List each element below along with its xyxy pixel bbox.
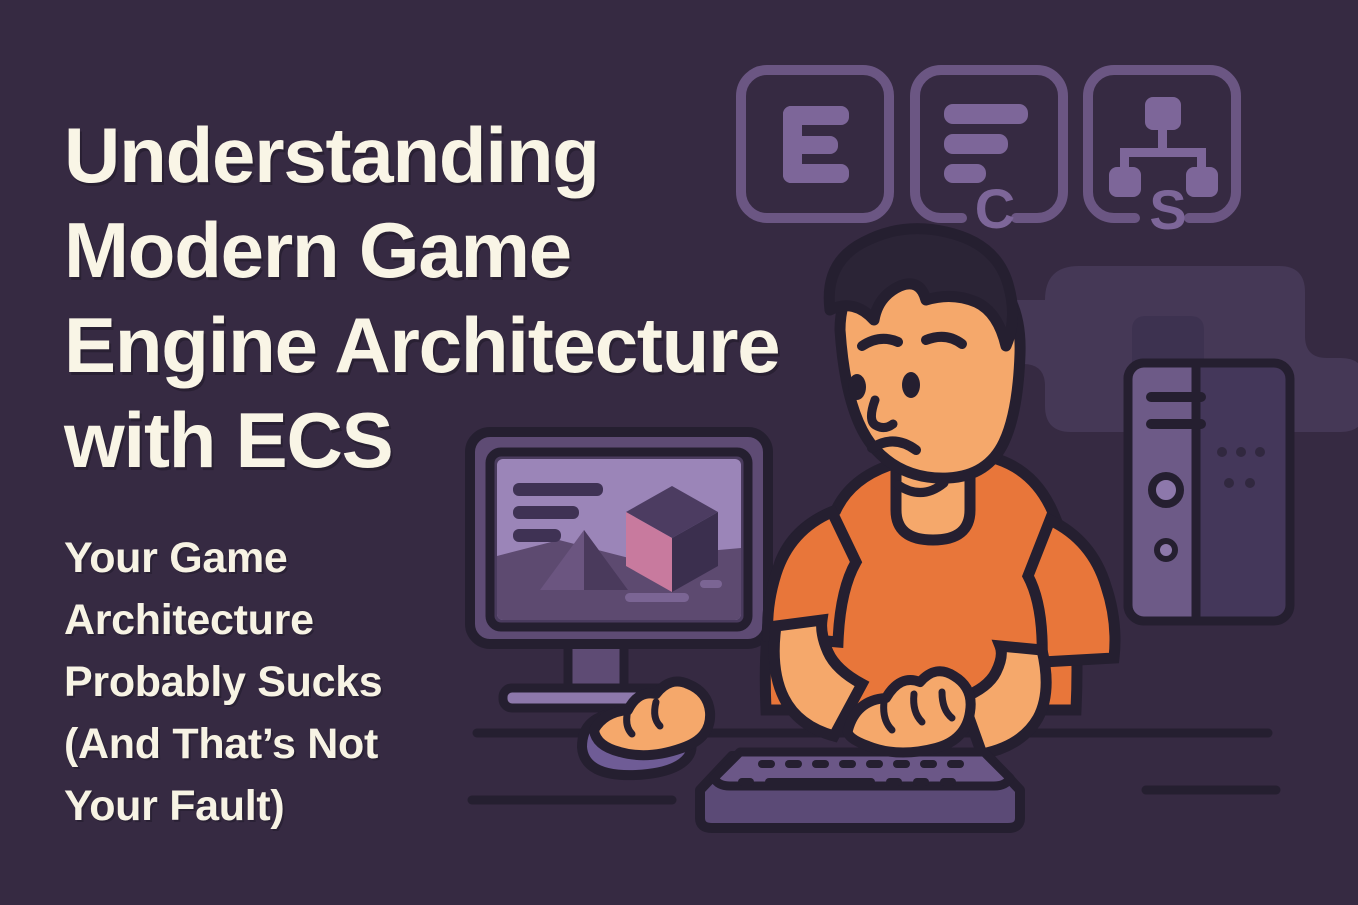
person-eye-right (902, 372, 920, 398)
power-button (1152, 476, 1180, 504)
reset-button (1157, 541, 1175, 559)
person-eye-left (848, 374, 866, 400)
ecs-badge-group: C S (741, 70, 1236, 241)
screen-ui-bar-2 (513, 506, 579, 519)
badge-system-letter: S (1149, 178, 1186, 241)
desktop-monitor (470, 432, 768, 708)
monitor-screen-content (497, 459, 741, 620)
screen-progress-bar (625, 593, 689, 602)
keyboard-spacebar (765, 778, 875, 786)
keyboard (700, 752, 1020, 828)
pc-tower (1128, 363, 1290, 621)
illustration-artboard: C S (0, 0, 1358, 905)
poster-canvas: C S (0, 0, 1358, 905)
screen-ui-bar-3 (513, 529, 561, 542)
badge-component-letter: C (975, 177, 1015, 240)
screen-ui-bar-1 (513, 483, 603, 496)
drive-slot-bottom (1146, 419, 1206, 429)
badge-entity[interactable] (741, 70, 889, 218)
screen-small-pill (700, 580, 722, 588)
person-right-sleeve (1028, 520, 1115, 662)
letter-e-glyph (783, 106, 849, 183)
badge-component[interactable]: C (915, 70, 1063, 240)
stacked-bars-glyph (944, 104, 1028, 183)
badge-system[interactable]: S (1088, 70, 1236, 241)
drive-slot-top (1146, 392, 1206, 402)
